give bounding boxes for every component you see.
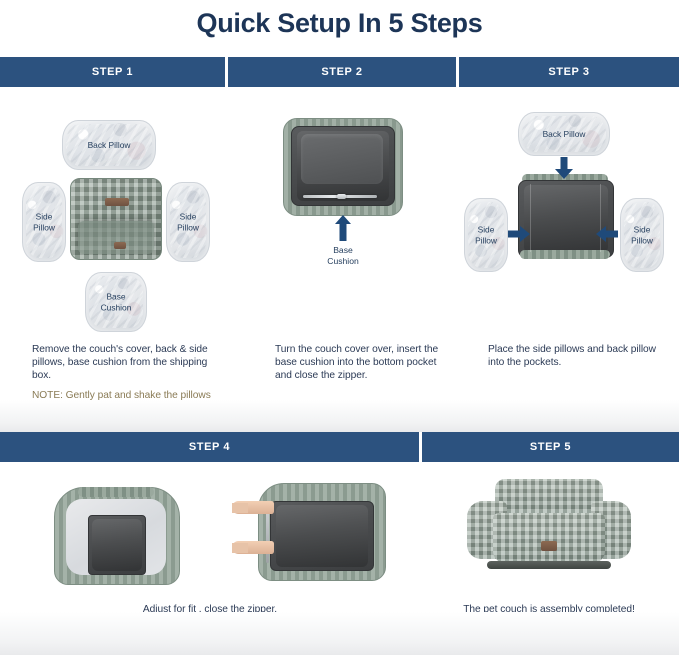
- step-5-caption: The pet couch is assembly completed!: [431, 603, 667, 616]
- step-3-side-pillow-right-label: Side Pillow: [621, 225, 663, 246]
- zipper-pull: [337, 194, 346, 199]
- step-header-row-1: STEP 1 STEP 2 STEP 3: [0, 57, 679, 87]
- step-1-panel: Back Pillow Side Pillow Side Pillow Base…: [0, 90, 225, 400]
- step-3-back-pillow-bag: Back Pillow: [518, 112, 610, 156]
- couch-seat-cushion: [493, 513, 605, 563]
- back-pillow-bag: Back Pillow: [62, 120, 156, 170]
- assembled-pet-couch: [467, 479, 631, 581]
- forearm-lower: [232, 543, 248, 553]
- back-pillow-label: Back Pillow: [63, 140, 155, 151]
- step-5-caption-text: The pet couch is assembly completed!: [463, 604, 634, 615]
- step-header-step-4: STEP 4: [0, 432, 419, 462]
- step-header-step-5: STEP 5: [419, 432, 679, 462]
- side-pillow-left-arrow-right: [508, 226, 530, 242]
- step-3-side-pillow-left-bag: Side Pillow: [464, 198, 508, 272]
- step-2-caption: Turn the couch cover over, insert the ba…: [275, 343, 451, 383]
- step-3-caption-text: Place the side pillows and back pillow i…: [488, 344, 656, 368]
- step-4-caption-text: Adjust for fit , close the zipper.: [143, 604, 277, 615]
- zipper-couch-dark-panel: [270, 501, 374, 571]
- pocket-inner-cushion: [301, 134, 383, 184]
- step-4-panel: Adjust for fit , close the zipper.: [0, 465, 419, 630]
- side-pillow-left-label: Side Pillow: [23, 212, 65, 233]
- cover-bottom-rim: [520, 250, 610, 259]
- cover-flap: [78, 221, 154, 255]
- brand-tag-bottom: [114, 242, 126, 249]
- side-pillow-right-bag: Side Pillow: [166, 182, 210, 262]
- back-pillow-arrow-down: [555, 157, 573, 179]
- side-pillow-right-label: Side Pillow: [167, 212, 209, 233]
- page-title: Quick Setup In 5 Steps: [0, 0, 679, 52]
- forearm-upper: [232, 503, 248, 513]
- open-couch-seat-pocket: [88, 515, 146, 575]
- step-header-step-1: STEP 1: [0, 57, 225, 87]
- step-1-caption-text: Remove the couch's cover, back & side pi…: [32, 344, 208, 381]
- step-2-panel: Base Cushion Turn the couch cover over, …: [225, 90, 456, 400]
- cover-left-seam: [530, 184, 531, 252]
- couch-brand-tag: [541, 541, 557, 551]
- step-2-caption-text: Turn the couch cover over, insert the ba…: [275, 344, 438, 381]
- step-3-side-pillow-left-label: Side Pillow: [465, 225, 507, 246]
- step-header-row-2: STEP 4 STEP 5: [0, 432, 679, 462]
- step-4-illustration-hands-zipper: [232, 475, 392, 587]
- step-3-side-pillow-right-bag: Side Pillow: [620, 198, 664, 272]
- step-3-back-pillow-label: Back Pillow: [519, 129, 609, 140]
- side-pillow-right-arrow-left: [596, 226, 618, 242]
- step-3-panel: Back Pillow Side Pillow Side Pillow Plac…: [456, 90, 679, 400]
- couch-backrest: [495, 479, 603, 513]
- step-1-caption: Remove the couch's cover, back & side pi…: [32, 343, 226, 415]
- couch-base-shadow: [487, 561, 611, 569]
- base-cushion-bag: Base Cushion: [85, 272, 147, 332]
- step-1-note-text: NOTE: Gently pat and shake the pillows a…: [32, 389, 226, 415]
- step-header-step-3: STEP 3: [456, 57, 679, 87]
- base-cushion-arrow-up: [335, 215, 351, 241]
- brand-tag-top: [105, 198, 129, 206]
- step-header-step-2: STEP 2: [225, 57, 456, 87]
- step-3-caption: Place the side pillows and back pillow i…: [488, 343, 666, 369]
- base-cushion-label: Base Cushion: [86, 292, 146, 313]
- step-2-base-cushion-label: Base Cushion: [303, 245, 383, 267]
- step-4-caption: Adjust for fit , close the zipper.: [60, 603, 360, 616]
- step-4-illustration-open-couch: [48, 477, 184, 587]
- step-5-panel: The pet couch is assembly completed!: [419, 465, 679, 630]
- open-couch-top-rim: [78, 487, 154, 497]
- side-pillow-left-bag: Side Pillow: [22, 182, 66, 262]
